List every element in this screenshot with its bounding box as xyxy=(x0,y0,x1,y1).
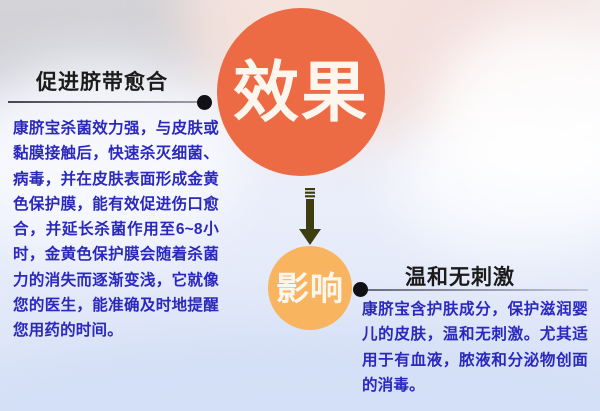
poster-canvas: 效果 影响 促进脐带愈合 康脐宝杀菌效力强，与皮肤或黏膜接触后，快速杀灭细菌、病… xyxy=(0,0,600,411)
effect-badge-label: 效果 xyxy=(233,59,369,125)
section-heading-healing: 促进脐带愈合 xyxy=(36,66,168,96)
impact-badge: 影响 xyxy=(268,246,352,330)
section-bullet-dot-gentle xyxy=(353,282,368,297)
section-rule-gentle xyxy=(362,289,588,291)
effect-badge: 效果 xyxy=(217,8,385,176)
section-rule-healing xyxy=(8,101,204,103)
section-body-gentle: 康脐宝含护肤成分，保护滋润婴儿的皮肤，温和无刺激。尤其适用于有血液，脓液和分泌物… xyxy=(362,297,588,398)
impact-badge-label: 影响 xyxy=(276,272,344,305)
down-arrow-icon xyxy=(296,188,324,246)
section-heading-gentle: 温和无刺激 xyxy=(405,261,515,291)
section-body-healing: 康脐宝杀菌效力强，与皮肤或黏膜接触后，快速杀灭细菌、病毒，并在皮肤表面形成金黄色… xyxy=(13,116,219,343)
section-bullet-dot-healing xyxy=(197,95,212,110)
